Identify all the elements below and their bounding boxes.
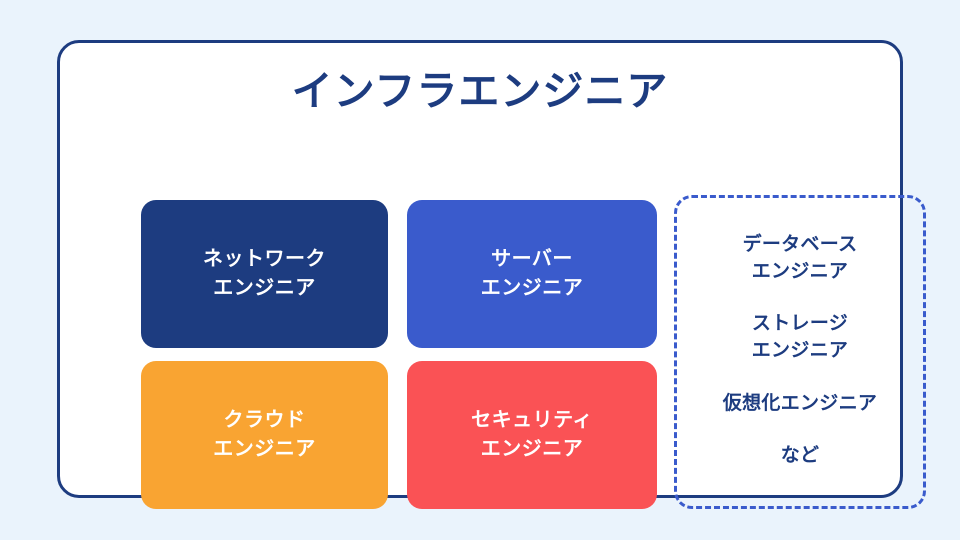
page-title: インフラエンジニア: [60, 68, 900, 115]
role-tile-security[interactable]: セキュリティ エンジニア: [407, 361, 657, 509]
role-tile-network-line1: ネットワーク: [203, 245, 326, 274]
other-role-etc-line1: など: [781, 443, 820, 470]
other-role-database-line2: エンジニア: [743, 259, 858, 286]
content-card: インフラエンジニア ネットワーク エンジニア サーバー エンジニア クラウド エ…: [57, 40, 903, 498]
role-tile-server[interactable]: サーバー エンジニア: [407, 200, 657, 348]
other-roles-panel: データベース エンジニア ストレージ エンジニア 仮想化エンジニア など: [674, 195, 926, 509]
role-tile-security-line2: エンジニア: [481, 435, 584, 464]
role-tile-server-line2: エンジニア: [481, 274, 584, 303]
role-tile-network-line2: エンジニア: [213, 274, 316, 303]
role-tile-server-line1: サーバー: [491, 245, 573, 274]
role-tile-network[interactable]: ネットワーク エンジニア: [141, 200, 388, 348]
role-tile-cloud-line2: エンジニア: [213, 435, 316, 464]
role-tile-cloud-line1: クラウド: [224, 406, 306, 435]
other-role-virtualization: 仮想化エンジニア: [723, 391, 877, 418]
other-role-virtualization-line1: 仮想化エンジニア: [723, 391, 877, 418]
role-tile-cloud[interactable]: クラウド エンジニア: [141, 361, 388, 509]
role-tile-security-line1: セキュリティ: [471, 406, 593, 435]
other-role-database: データベース エンジニア: [743, 232, 858, 286]
other-role-storage-line1: ストレージ: [752, 311, 849, 338]
slide-canvas: インフラエンジニア ネットワーク エンジニア サーバー エンジニア クラウド エ…: [0, 0, 960, 540]
other-role-storage: ストレージ エンジニア: [752, 311, 849, 365]
other-role-database-line1: データベース: [743, 232, 858, 259]
other-role-etc: など: [781, 443, 820, 470]
other-role-storage-line2: エンジニア: [752, 338, 849, 365]
